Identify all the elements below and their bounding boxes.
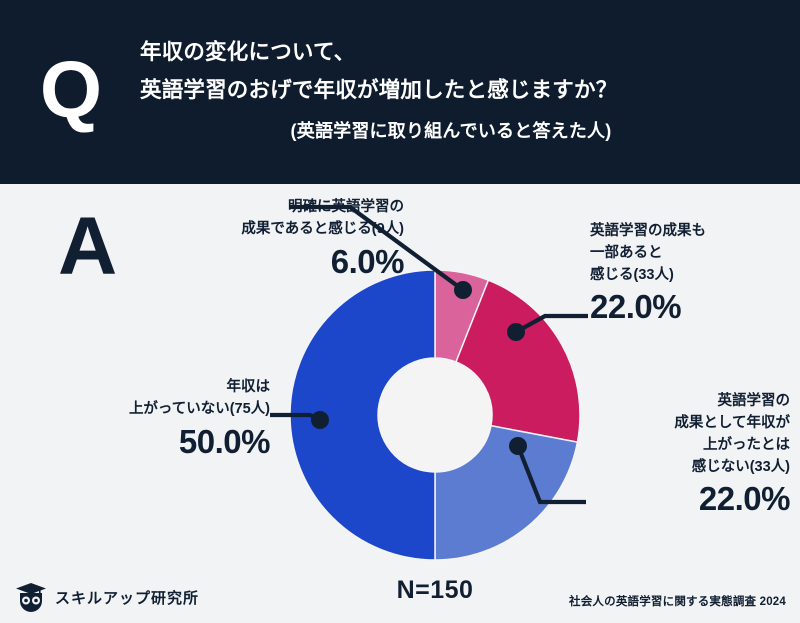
label-not-feel-line-1: 英語学習の — [560, 390, 790, 412]
question-header: Q 年収の変化について、 英語学習のおげで年収が増加したと感じますか？ (英語学… — [0, 0, 800, 184]
label-partial-line-2: 一部あると — [590, 242, 790, 264]
survey-credit: 社会人の英語学習に関する実態調査 2024 — [569, 593, 786, 609]
leader-dot-clear — [454, 281, 472, 299]
brand-lockup: スキルアップ研究所 — [0, 581, 199, 615]
question-text-block: 年収の変化について、 英語学習のおげで年収が増加したと感じますか？ (英語学習に… — [140, 42, 800, 143]
label-not-feel-line-4: 感じない(33人) — [560, 456, 790, 478]
question-mark-letter: Q — [0, 50, 140, 134]
label-not-feel: 英語学習の 成果として年収が 上がったとは 感じない(33人) 22.0% — [560, 390, 790, 517]
label-no-raise-line-2: 上がっていない(75人) — [20, 398, 270, 420]
label-clear-line-1: 明確に英語学習の — [134, 196, 404, 218]
donut-hole — [378, 358, 492, 472]
donut-slices-accurate — [290, 270, 580, 560]
owl-graduate-icon — [14, 581, 48, 615]
label-no-raise-line-1: 年収は — [20, 376, 270, 398]
leader-dot-partial — [507, 323, 525, 341]
label-no-raise-percent: 50.0% — [20, 424, 270, 460]
label-clear-percent: 6.0% — [134, 244, 404, 280]
question-line-1: 年収の変化について、 — [140, 42, 786, 64]
label-clear: 明確に英語学習の 成果であると感じる(9人) 6.0% — [134, 196, 404, 280]
question-qualifier: (英語学習に取り組んでいると答えた人) — [140, 117, 786, 143]
label-partial-line-3: 感じる(33人) — [590, 264, 790, 286]
brand-name: スキルアップ研究所 — [55, 587, 199, 608]
label-partial: 英語学習の成果も 一部あると 感じる(33人) 22.0% — [590, 220, 790, 325]
label-clear-line-2: 成果であると感じる(9人) — [134, 218, 404, 240]
label-not-feel-percent: 22.0% — [560, 481, 790, 517]
footer: スキルアップ研究所 社会人の英語学習に関する実態調査 2024 — [0, 572, 800, 623]
label-partial-line-1: 英語学習の成果も — [590, 220, 790, 242]
question-line-2: 英語学習のおげで年収が増加したと感じますか？ — [140, 80, 786, 102]
leader-dot-not-feel — [509, 437, 527, 455]
leader-dot-no-raise — [311, 411, 329, 429]
label-no-raise: 年収は 上がっていない(75人) 50.0% — [20, 376, 270, 460]
label-not-feel-line-2: 成果として年収が — [560, 412, 790, 434]
label-partial-percent: 22.0% — [590, 289, 790, 325]
label-not-feel-line-3: 上がったとは — [560, 434, 790, 456]
